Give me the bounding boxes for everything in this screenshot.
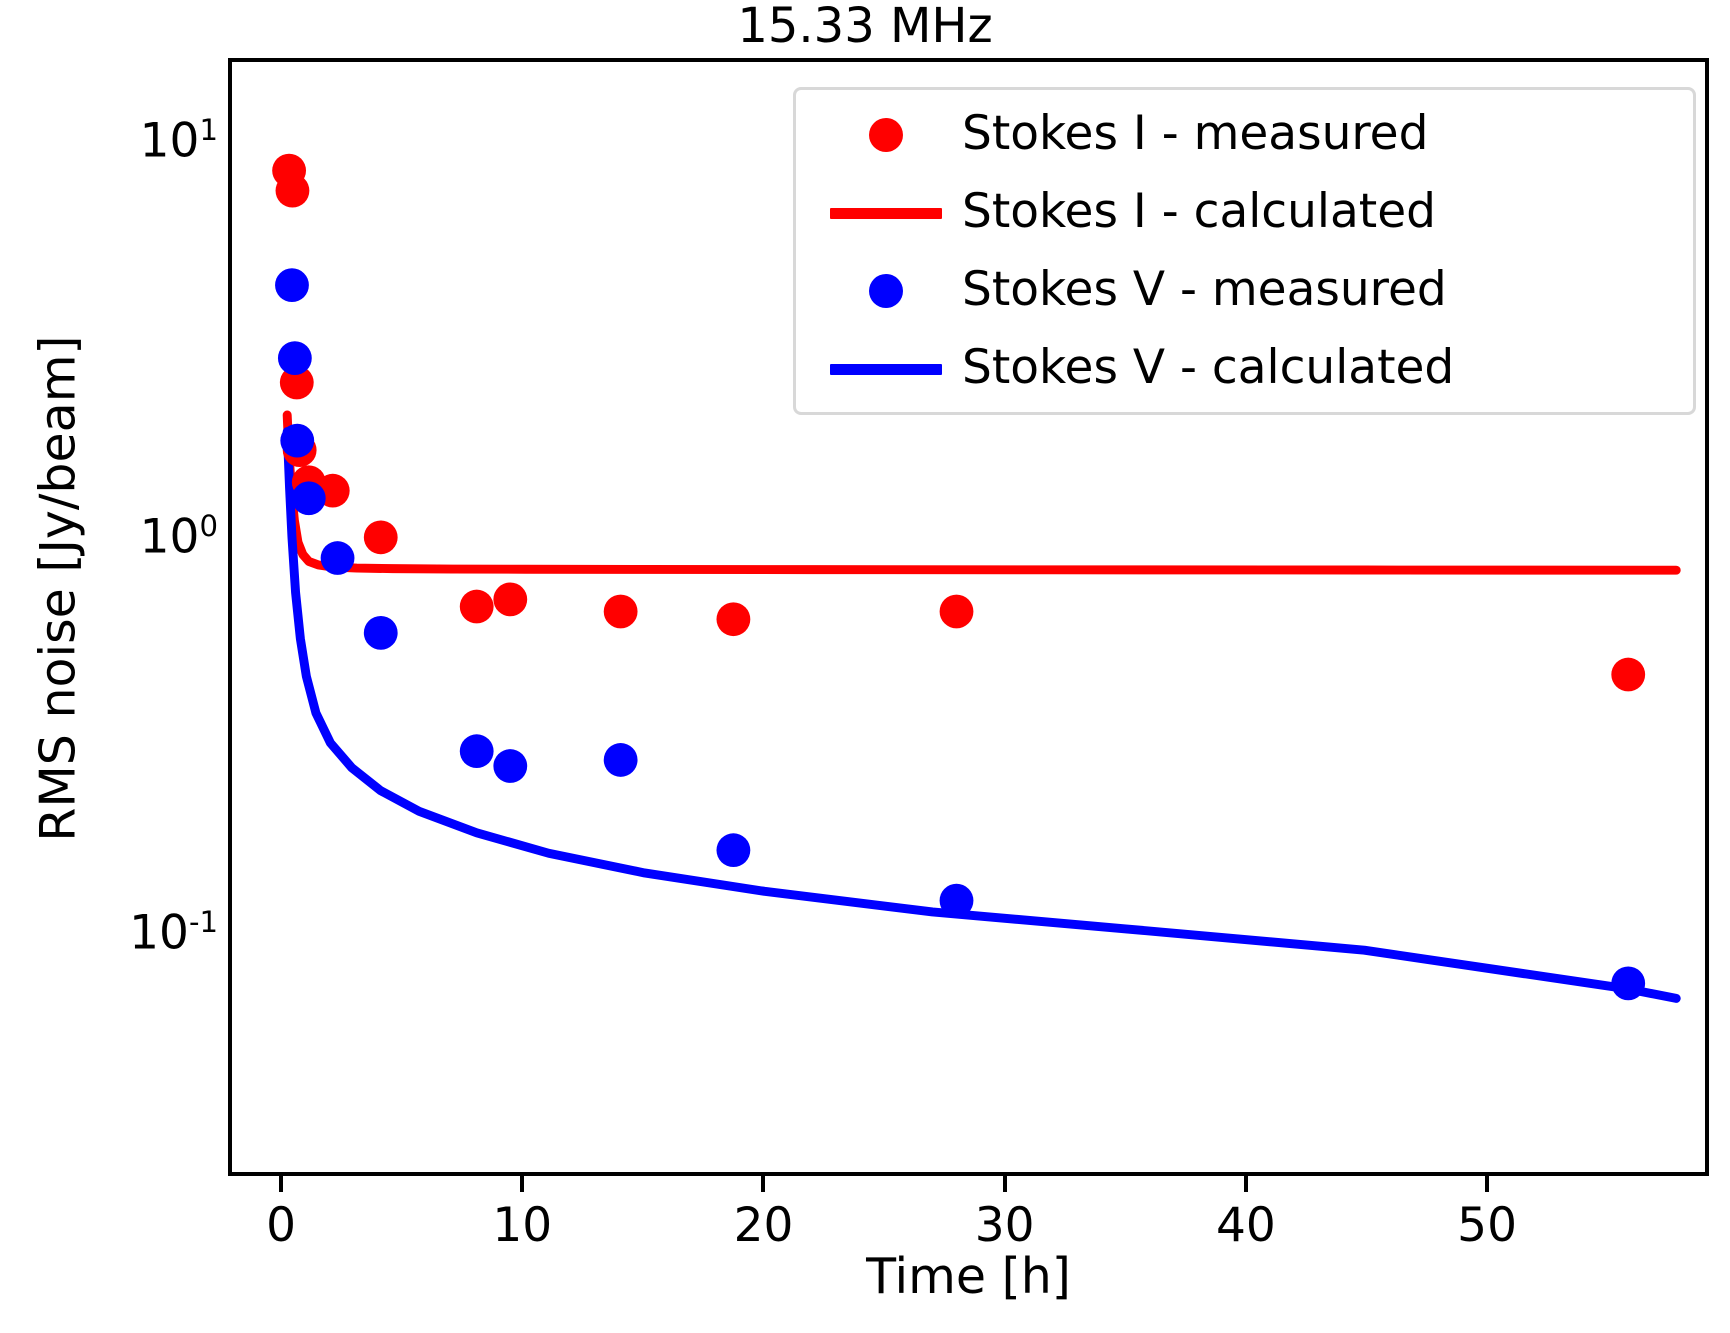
data-point bbox=[493, 749, 527, 783]
data-point bbox=[1611, 966, 1645, 1000]
legend-item-1[interactable]: Stokes I - measured bbox=[810, 96, 1673, 174]
legend-item-4[interactable]: Stokes V - calculated bbox=[810, 330, 1673, 408]
x-tick-major bbox=[1003, 1174, 1007, 1192]
data-point bbox=[364, 520, 398, 554]
data-point bbox=[460, 734, 494, 768]
legend-swatch bbox=[869, 274, 903, 308]
legend-label: Stokes I - measured bbox=[962, 110, 1428, 161]
x-tick-major bbox=[1244, 1174, 1248, 1192]
legend-item-2[interactable]: Stokes I - calculated bbox=[810, 174, 1673, 252]
legend-label: Stokes V - calculated bbox=[962, 344, 1454, 395]
series-line-4 bbox=[287, 432, 1676, 999]
data-point bbox=[460, 590, 494, 624]
x-tick-major bbox=[520, 1174, 524, 1192]
data-point bbox=[280, 424, 314, 458]
x-tick-major bbox=[761, 1174, 765, 1192]
x-tick-label: 50 bbox=[1427, 1198, 1547, 1253]
data-point bbox=[1611, 658, 1645, 692]
legend-marker-dot-icon bbox=[810, 274, 962, 308]
data-point bbox=[716, 602, 750, 636]
x-tick-label: 10 bbox=[462, 1198, 582, 1253]
x-axis-label: Time [h] bbox=[228, 1248, 1709, 1305]
x-tick-label: 0 bbox=[221, 1198, 341, 1253]
data-point bbox=[276, 174, 310, 208]
figure-canvas: 15.33 MHz RMS noise [Jy/beam] Time [h] 1… bbox=[0, 0, 1730, 1333]
legend-marker-dot-icon bbox=[810, 118, 962, 152]
y-tick-label: 100 bbox=[18, 509, 218, 565]
data-point bbox=[604, 595, 638, 629]
y-tick-label: 10-1 bbox=[18, 905, 218, 961]
legend-label: Stokes I - calculated bbox=[962, 188, 1436, 239]
legend-box: Stokes I - measuredStokes I - calculated… bbox=[793, 87, 1696, 415]
data-point bbox=[275, 268, 309, 302]
legend-swatch bbox=[869, 118, 903, 152]
x-tick-label: 20 bbox=[703, 1198, 823, 1253]
legend-swatch bbox=[830, 208, 942, 219]
x-tick-major bbox=[1485, 1174, 1489, 1192]
data-point bbox=[940, 595, 974, 629]
series-line-2 bbox=[287, 415, 1676, 570]
y-tick-label: 101 bbox=[18, 113, 218, 169]
data-point bbox=[321, 541, 355, 575]
data-point bbox=[604, 743, 638, 777]
legend-marker-line-icon bbox=[810, 208, 962, 219]
data-point bbox=[278, 341, 312, 375]
data-point bbox=[716, 833, 750, 867]
legend-swatch bbox=[830, 364, 942, 375]
chart-title: 15.33 MHz bbox=[0, 2, 1730, 50]
legend-label: Stokes V - measured bbox=[962, 266, 1447, 317]
data-point bbox=[493, 582, 527, 616]
x-tick-major bbox=[279, 1174, 283, 1192]
y-axis-label: RMS noise [Jy/beam] bbox=[30, 209, 87, 969]
data-point bbox=[940, 884, 974, 918]
data-point bbox=[364, 616, 398, 650]
x-tick-label: 30 bbox=[945, 1198, 1065, 1253]
legend-marker-line-icon bbox=[810, 364, 962, 375]
legend-item-3[interactable]: Stokes V - measured bbox=[810, 252, 1673, 330]
x-tick-label: 40 bbox=[1186, 1198, 1306, 1253]
data-point bbox=[292, 481, 326, 515]
